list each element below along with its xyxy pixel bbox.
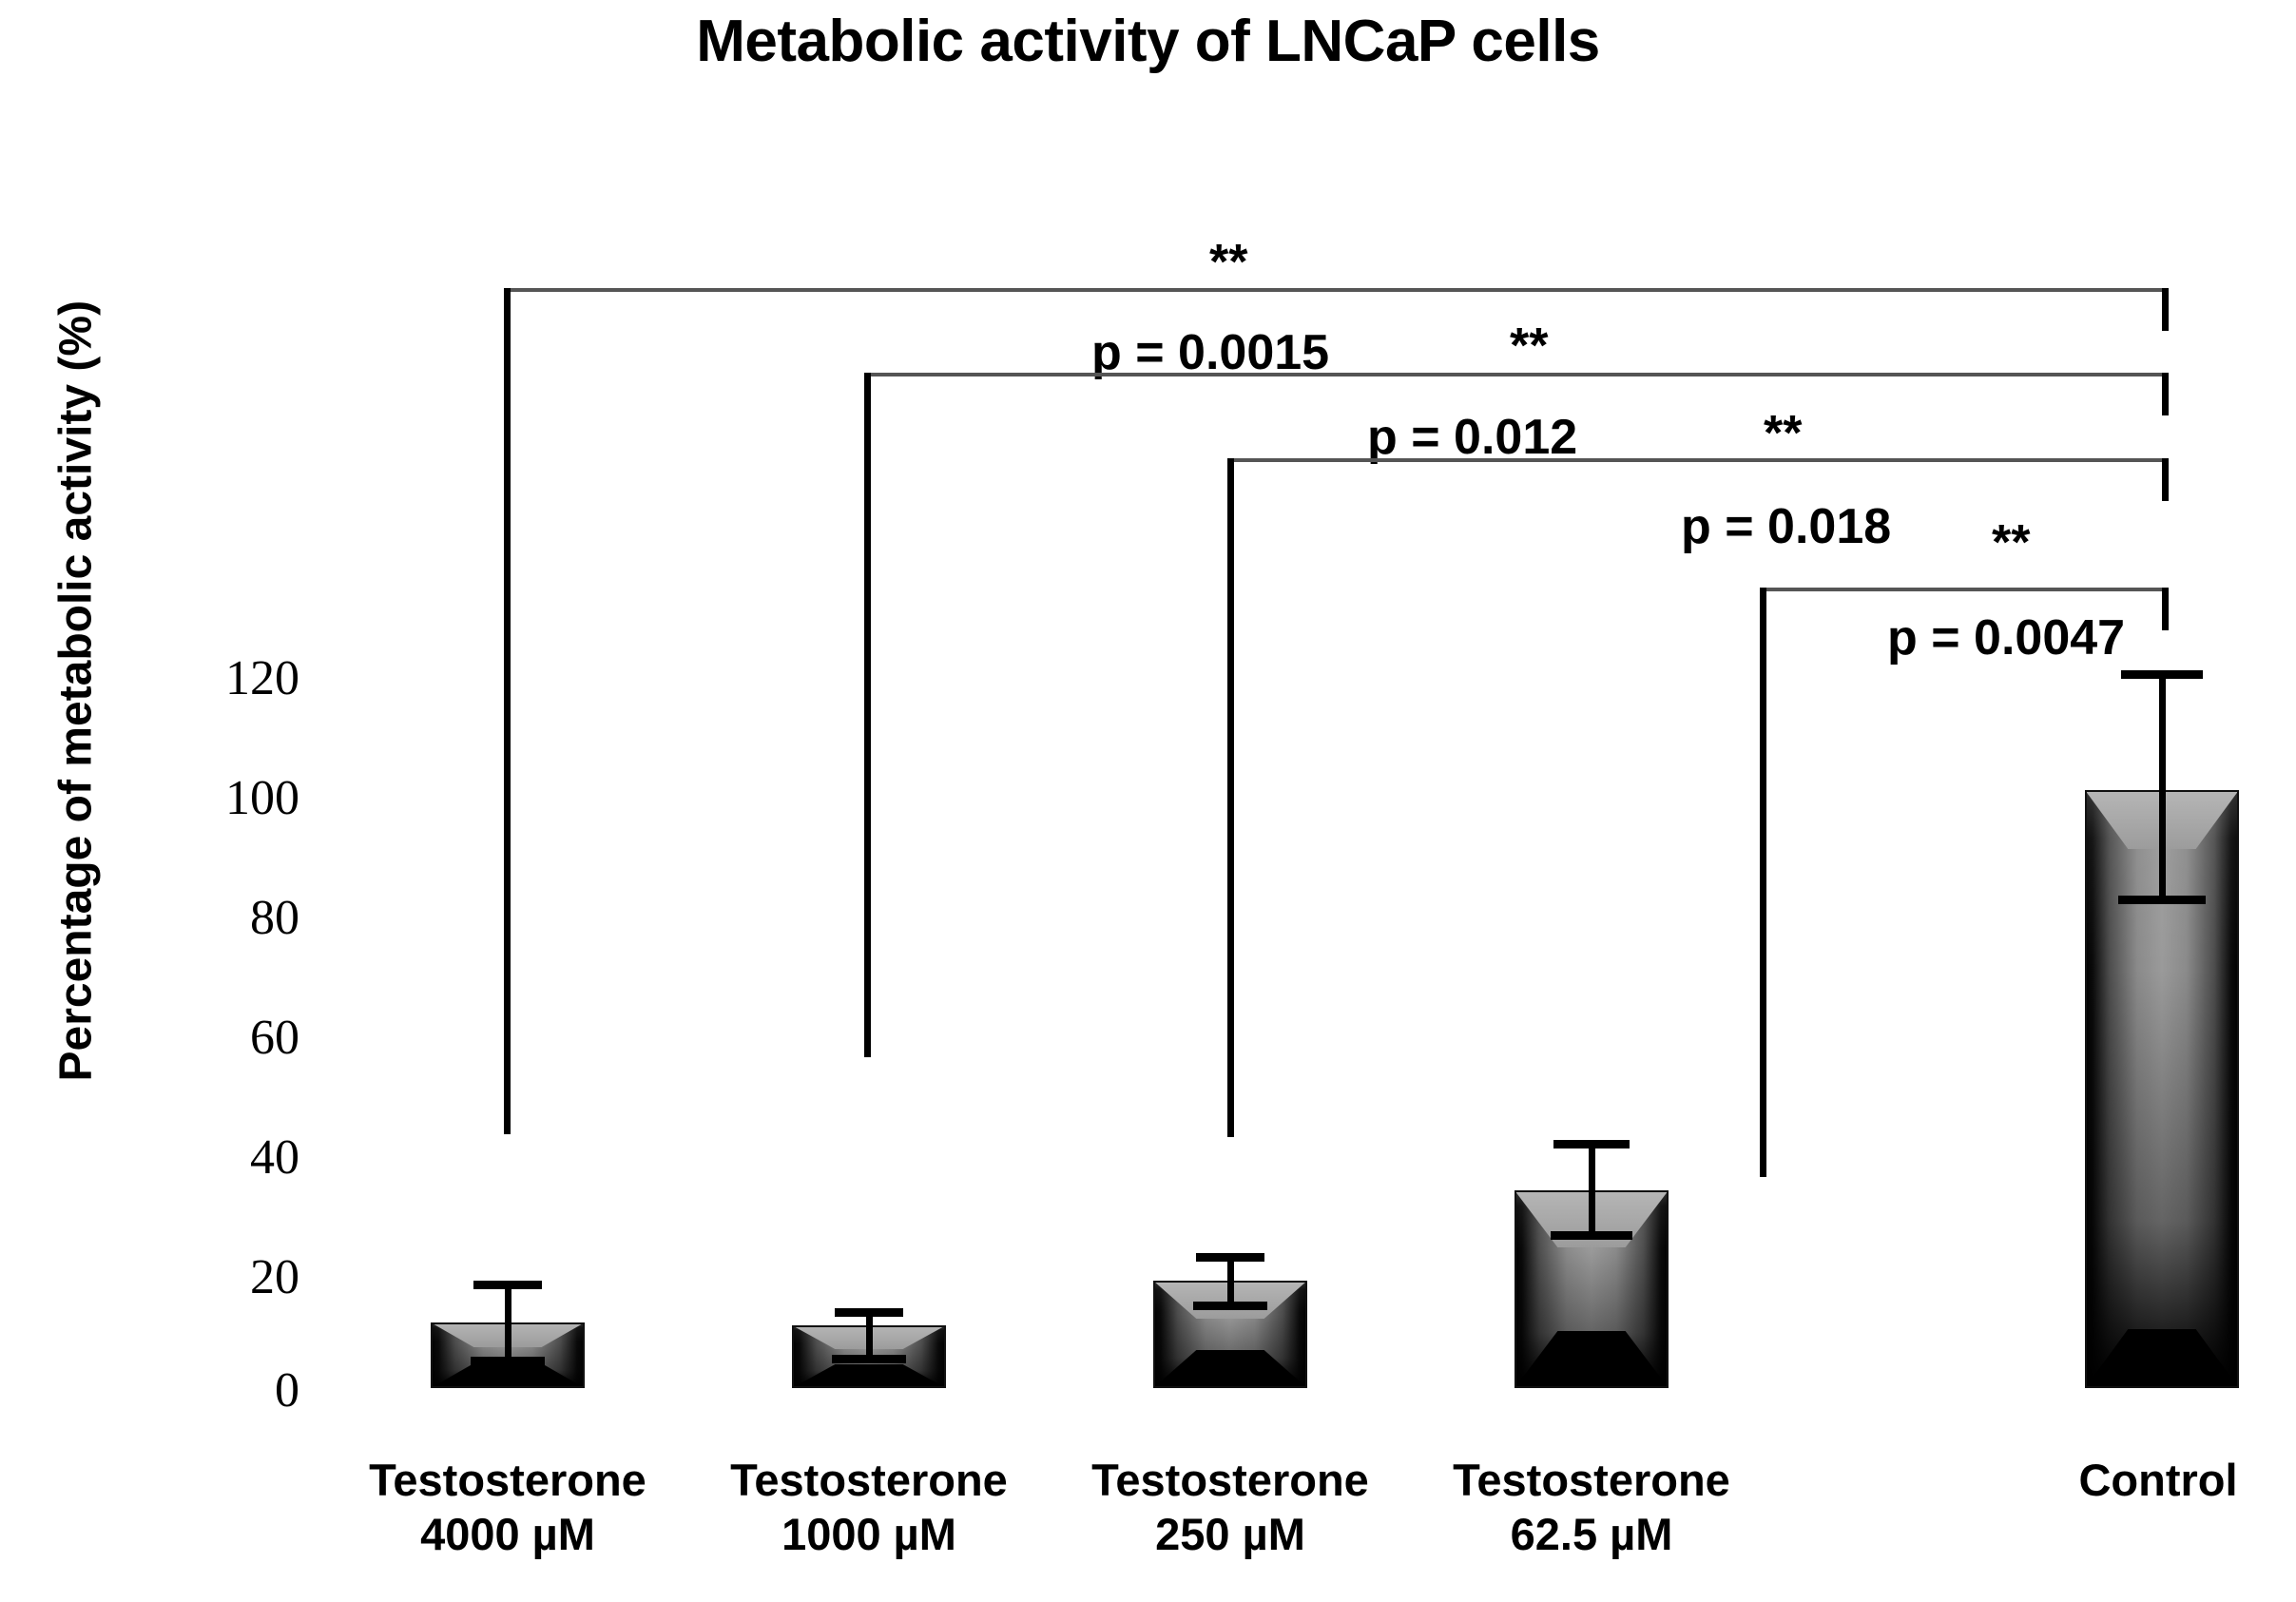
y-tick-label: 40 (109, 1133, 299, 1183)
bracket-right-tick (2162, 288, 2169, 331)
y-axis-ticks: 120 100 80 60 40 20 0 (52, 0, 299, 1602)
bracket-left-tick (864, 373, 871, 1057)
significance-stars-4: ** (1992, 518, 2030, 568)
error-bar-testosterone-1000 (792, 1308, 946, 1363)
x-label-line2: 1000 µM (684, 1507, 1054, 1561)
error-bar-cap-top (473, 1281, 542, 1289)
x-label-line1: Testosterone (684, 1453, 1054, 1507)
bracket-right-tick (2162, 458, 2169, 501)
significance-pvalue-2: p = 0.012 (1367, 413, 1577, 462)
x-label-line1: Testosterone (1406, 1453, 1777, 1507)
bracket-left-tick (504, 288, 511, 1134)
bracket-horizontal-line (504, 288, 2169, 292)
bracket-horizontal-line (1760, 588, 2169, 591)
y-tick-label: 20 (109, 1253, 299, 1303)
x-label-line1: Control (2016, 1453, 2296, 1507)
y-tick-label: 60 (109, 1013, 299, 1063)
error-bar-testosterone-250 (1153, 1253, 1307, 1310)
y-tick-label: 0 (109, 1366, 299, 1416)
error-bar-testosterone-4000 (431, 1281, 585, 1365)
bracket-left-tick (1227, 458, 1234, 1137)
y-tick-label: 120 (109, 654, 299, 704)
x-label-line1: Testosterone (322, 1453, 693, 1507)
x-tick-label-testosterone-4000: Testosterone 4000 µM (322, 1453, 693, 1561)
x-tick-label-testosterone-250: Testosterone 250 µM (1045, 1453, 1416, 1561)
x-tick-label-control: Control (2016, 1453, 2296, 1507)
significance-stars-3: ** (1764, 409, 1802, 458)
bracket-right-tick (2162, 373, 2169, 415)
error-bar-cap-bottom (832, 1355, 906, 1363)
significance-stars-1: ** (1209, 238, 1247, 287)
error-bar-cap-top (1553, 1140, 1630, 1148)
significance-bracket-4 (1760, 588, 2169, 1177)
x-label-line2: 62.5 µM (1406, 1507, 1777, 1561)
error-bar-cap-bottom (1551, 1231, 1632, 1240)
significance-pvalue-1: p = 0.0015 (1091, 328, 1329, 377)
y-tick-label: 80 (109, 894, 299, 943)
bracket-horizontal-line (1227, 458, 2169, 462)
x-tick-label-testosterone-1000: Testosterone 1000 µM (684, 1453, 1054, 1561)
x-label-line2: 250 µM (1045, 1507, 1416, 1561)
x-label-line2: 4000 µM (322, 1507, 693, 1561)
x-label-line1: Testosterone (1045, 1453, 1416, 1507)
significance-stars-2: ** (1510, 321, 1548, 371)
error-bar-cap-top (835, 1308, 903, 1317)
bracket-right-tick (2162, 588, 2169, 630)
error-bar-cap-top (1196, 1253, 1264, 1262)
significance-pvalue-4: p = 0.0047 (1887, 613, 2125, 663)
error-bar-cap-bottom (471, 1357, 545, 1365)
significance-pvalue-3: p = 0.018 (1681, 502, 1891, 551)
bracket-left-tick (1760, 588, 1766, 1177)
error-bar-stem (1589, 1140, 1595, 1240)
x-tick-label-testosterone-62-5: Testosterone 62.5 µM (1406, 1453, 1777, 1561)
chart-plot-area: 120 100 80 60 40 20 0 (0, 0, 2296, 1602)
y-tick-label: 100 (109, 774, 299, 823)
error-bar-testosterone-62-5 (1515, 1140, 1669, 1240)
error-bar-cap-bottom (1193, 1302, 1267, 1310)
error-bar-stem (505, 1281, 511, 1365)
